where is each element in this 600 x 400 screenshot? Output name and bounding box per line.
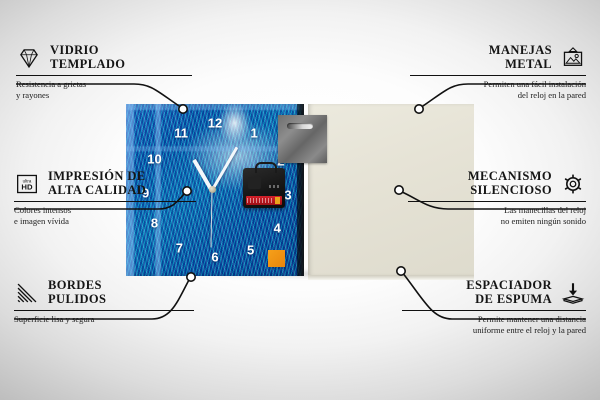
callout-rule [16,75,192,76]
callout-title: IMPRESIÓN DE ALTA CALIDAD [48,170,146,197]
callout-description: Permite mantener una distancia uniforme … [402,314,586,335]
callout-description: Colores intensos e imagen vívida [14,205,196,226]
desc-line-1: Superficie lisa y segura [14,314,94,324]
title-line-2: METAL [505,57,552,71]
title-line-1: MECANISMO [468,169,552,183]
title-line-2: TEMPLADO [50,57,125,71]
clock-number-11: 11 [174,127,188,140]
callout-description: Resistencia a grietas y rayones [16,79,192,100]
polished-edges-icon [14,281,40,305]
desc-line-2: uniforme entre el reloj y la pared [473,325,586,335]
title-line-1: ESPACIADOR [466,278,552,292]
desc-line-2: y rayones [16,90,49,100]
clock-number-6: 6 [211,251,218,264]
desc-line-1: Resistencia a grietas [16,79,86,89]
desc-line-2: del reloj en la pared [518,90,586,100]
mechanism-hanging-loop [255,162,277,173]
mechanism-contacts [269,185,281,188]
callout-title: MANEJAS METAL [489,44,552,71]
callout-rule [402,310,586,311]
callout-rule [14,201,196,202]
callout-title: MECANISMO SILENCIOSO [468,170,552,197]
infographic-canvas: 12 1 2 3 4 5 6 7 8 9 10 11 [0,0,600,400]
svg-text:HD: HD [21,182,33,191]
title-line-1: MANEJAS [489,43,552,57]
clock-second-hand [210,189,212,247]
clock-number-3: 3 [284,189,291,202]
title-line-2: PULIDOS [48,292,106,306]
callout-rule [14,310,194,311]
diamond-icon [16,46,42,70]
clock-center-hub [209,186,216,193]
title-line-1: VIDRIO [50,43,99,57]
battery-stripes [247,198,273,203]
clock-number-10: 10 [147,153,161,166]
foam-spacer-icon [560,281,586,305]
desc-line-1: Permiten una fácil instalación [484,79,586,89]
callout-title: BORDES PULIDOS [48,279,106,306]
desc-line-2: no emiten ningún sonido [501,216,586,226]
callout-title: VIDRIO TEMPLADO [50,44,125,71]
title-line-2: ALTA CALIDAD [48,183,146,197]
clock-number-1: 1 [251,127,258,140]
mechanism-dial [248,177,261,189]
callout-description: Superficie lisa y segura [14,314,194,325]
callout-manejas-metal: MANEJAS METAL Permiten una fácil instala… [410,44,586,100]
clock-minute-hand [211,146,239,191]
desc-line-1: Colores intensos [14,205,71,215]
callout-title: ESPACIADOR DE ESPUMA [466,279,552,306]
hanger-slot [287,123,313,129]
callout-description: Las manecillas del reloj no emiten ningú… [408,205,586,226]
title-line-2: SILENCIOSO [470,183,552,197]
callout-espaciador-espuma: ESPACIADOR DE ESPUMA Permite mantener un… [402,279,586,335]
clock-mechanism [243,168,285,208]
callout-impresion-alta-calidad: ultra HD IMPRESIÓN DE ALTA CALIDAD Color… [14,170,196,226]
desc-line-2: e imagen vívida [14,216,69,226]
callout-bordes-pulidos: BORDES PULIDOS Superficie lisa y segura [14,279,194,325]
picture-frame-icon [560,46,586,70]
title-line-2: DE ESPUMA [475,292,552,306]
title-line-1: IMPRESIÓN DE [48,169,146,183]
foam-spacer [268,250,285,267]
title-line-1: BORDES [48,278,102,292]
callout-mecanismo-silencioso: MECANISMO SILENCIOSO Las manecillas del … [408,170,586,226]
callout-description: Permiten una fácil instalación del reloj… [410,79,586,100]
ultra-hd-icon: ultra HD [14,172,40,196]
clock-number-12: 12 [208,116,222,129]
callout-rule [408,201,586,202]
clock-number-4: 4 [274,221,281,234]
gear-icon [560,172,586,196]
metal-hanger-plate [278,115,327,163]
battery [246,196,282,205]
clock-number-5: 5 [247,244,254,257]
callout-rule [410,75,586,76]
callout-vidrio-templado: VIDRIO TEMPLADO Resistencia a grietas y … [16,44,192,100]
clock-number-7: 7 [176,242,183,255]
desc-line-1: Las manecillas del reloj [504,205,586,215]
desc-line-1: Permite mantener una distancia [478,314,586,324]
